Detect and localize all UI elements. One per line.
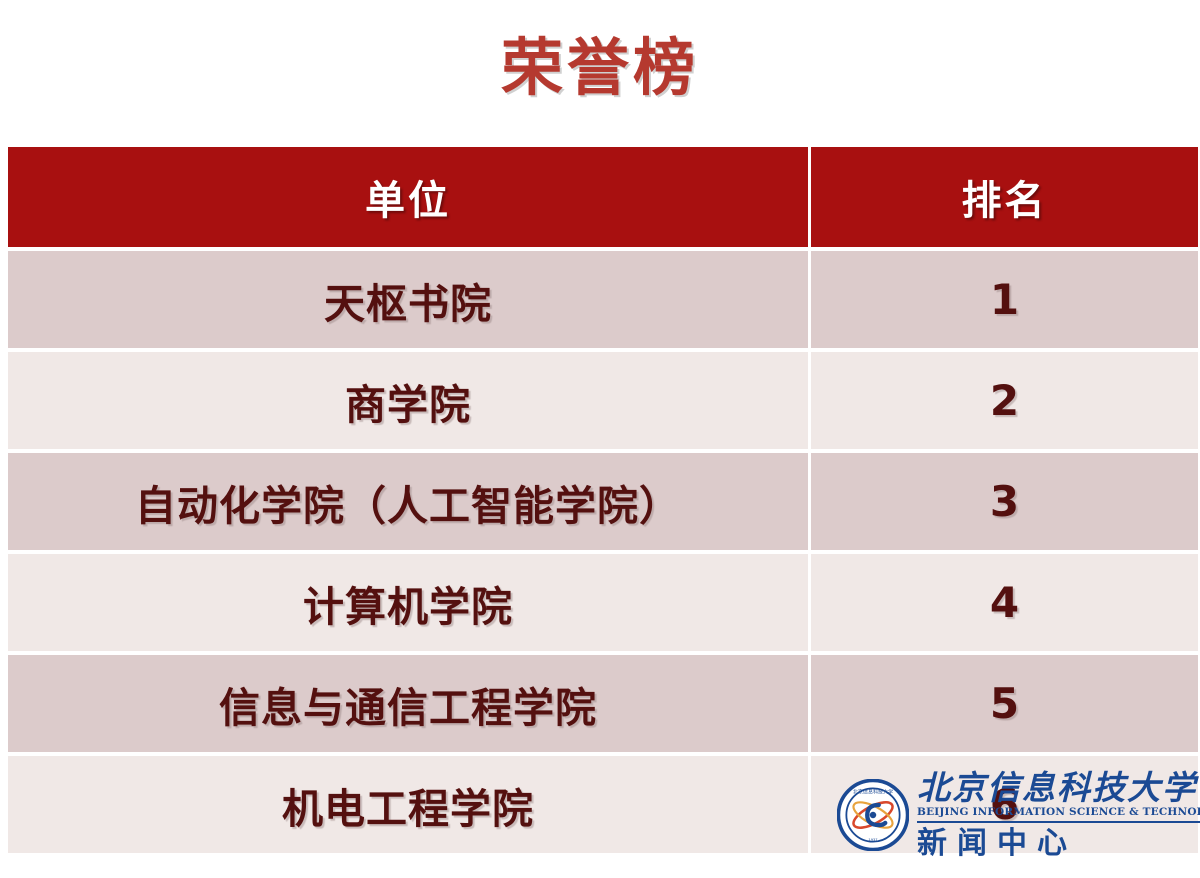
cell-unit: 自动化学院（人工智能学院）	[8, 453, 808, 550]
table-body: 天枢书院 1 商学院 2 自动化学院（人工智能学院） 3 计算机学院 4 信息与…	[8, 251, 1198, 853]
cell-unit: 商学院	[8, 352, 808, 449]
column-header-unit: 单位	[8, 147, 808, 247]
table-row: 计算机学院 4	[8, 554, 1198, 651]
cell-rank: 3	[811, 453, 1198, 550]
page-title: 荣誉榜	[501, 37, 699, 99]
cell-rank: 2	[811, 352, 1198, 449]
table-row: 商学院 2	[8, 352, 1198, 449]
cell-unit: 机电工程学院	[8, 756, 808, 853]
table-row: 机电工程学院 6	[8, 756, 1198, 853]
table-row: 自动化学院（人工智能学院） 3	[8, 453, 1198, 550]
cell-rank: 4	[811, 554, 1198, 651]
cell-rank: 6	[811, 756, 1198, 853]
column-header-rank: 排名	[811, 147, 1198, 247]
table-row: 天枢书院 1	[8, 251, 1198, 348]
cell-rank: 5	[811, 655, 1198, 752]
cell-unit: 天枢书院	[8, 251, 808, 348]
honor-roll-table: 单位 排名 天枢书院 1 商学院 2 自动化学院（人工智能学院） 3 计算机学院…	[5, 143, 1200, 857]
table-header-row: 单位 排名	[8, 147, 1198, 247]
cell-rank: 1	[811, 251, 1198, 348]
title-bar: 荣誉榜	[0, 0, 1200, 135]
cell-unit: 计算机学院	[8, 554, 808, 651]
table-row: 信息与通信工程学院 5	[8, 655, 1198, 752]
cell-unit: 信息与通信工程学院	[8, 655, 808, 752]
